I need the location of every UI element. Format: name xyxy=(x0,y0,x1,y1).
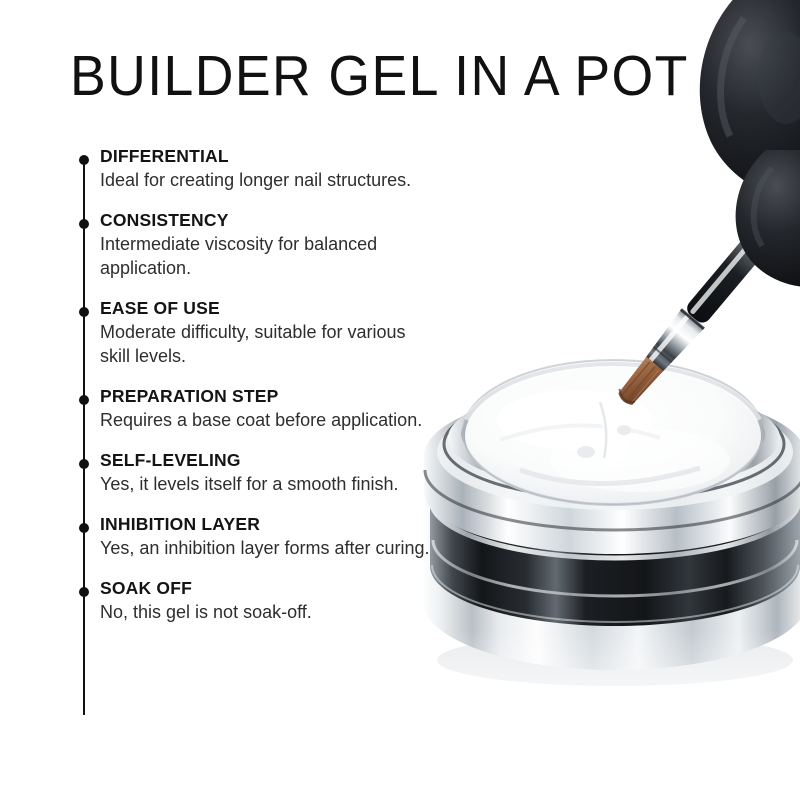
bullet-dot-icon xyxy=(79,155,89,165)
brush-handle xyxy=(684,127,800,326)
list-item: INHIBITION LAYER Yes, an inhibition laye… xyxy=(0,514,470,560)
list-item: EASE OF USE Moderate difficulty, suitabl… xyxy=(0,298,470,368)
list-item-heading: PREPARATION STEP xyxy=(100,386,470,407)
brush-ferrule xyxy=(642,308,705,375)
list-item: SOAK OFF No, this gel is not soak-off. xyxy=(0,578,470,624)
list-item-description: Intermediate viscosity for balanced appl… xyxy=(100,232,430,280)
list-item: SELF-LEVELING Yes, it levels itself for … xyxy=(0,450,470,496)
brush-bristles xyxy=(615,357,663,409)
list-item: DIFFERENTIAL Ideal for creating longer n… xyxy=(0,146,470,192)
bullet-dot-icon xyxy=(79,307,89,317)
gel-surface xyxy=(465,366,761,506)
list-item-description: Requires a base coat before application. xyxy=(100,408,440,432)
list-item-heading: SELF-LEVELING xyxy=(100,450,470,471)
list-item-heading: INHIBITION LAYER xyxy=(100,514,470,535)
bullet-dot-icon xyxy=(79,395,89,405)
list-item-description: Moderate difficulty, suitable for variou… xyxy=(100,320,440,368)
list-item-heading: DIFFERENTIAL xyxy=(100,146,470,167)
list-item: PREPARATION STEP Requires a base coat be… xyxy=(0,386,470,432)
bullet-dot-icon xyxy=(79,219,89,229)
gel-brush xyxy=(612,126,800,411)
list-item-description: Yes, it levels itself for a smooth finis… xyxy=(100,472,430,496)
infographic-root: BUILDER GEL IN A POT DIFFERENTIAL Ideal … xyxy=(0,0,800,800)
feature-list: DIFFERENTIAL Ideal for creating longer n… xyxy=(0,0,470,800)
bullet-dot-icon xyxy=(79,587,89,597)
bullet-dot-icon xyxy=(79,459,89,469)
gel-jar xyxy=(422,360,800,670)
bullet-dot-icon xyxy=(79,523,89,533)
timeline-items: DIFFERENTIAL Ideal for creating longer n… xyxy=(0,146,470,642)
list-item-heading: CONSISTENCY xyxy=(100,210,470,231)
list-item-heading: SOAK OFF xyxy=(100,578,470,599)
list-item-description: Ideal for creating longer nail structure… xyxy=(100,168,430,192)
list-item: CONSISTENCY Intermediate viscosity for b… xyxy=(0,210,470,280)
jar-shadow xyxy=(437,634,793,686)
list-item-description: No, this gel is not soak-off. xyxy=(100,600,440,624)
gloved-hand xyxy=(700,0,800,287)
list-item-description: Yes, an inhibition layer forms after cur… xyxy=(100,536,440,560)
list-item-heading: EASE OF USE xyxy=(100,298,470,319)
